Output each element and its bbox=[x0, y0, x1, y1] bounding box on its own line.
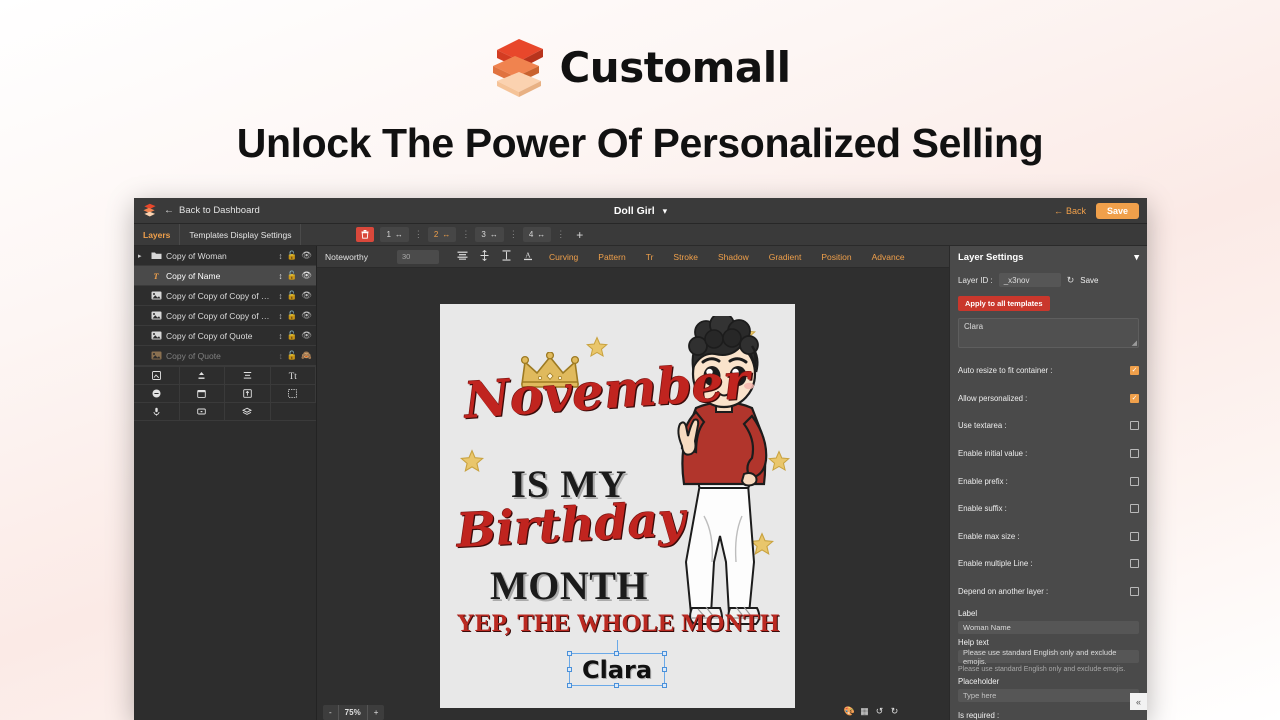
layer-actions[interactable]: ↕ 🔓 👁 bbox=[278, 330, 312, 341]
view-icon-group: 🎨 ▦ ↺ ↻ bbox=[843, 706, 901, 717]
setting-label: Depend on another layer : bbox=[958, 587, 1048, 596]
layers-stack-icon[interactable] bbox=[225, 403, 271, 421]
layer-actions[interactable]: ↕ 🔓 👁 bbox=[278, 270, 312, 281]
horizontal-resize-icon: ↔ bbox=[490, 230, 498, 239]
tool-cell-empty bbox=[271, 403, 317, 421]
stacked-cubes-logo bbox=[489, 36, 547, 98]
setting-label: Enable multiple Line : bbox=[958, 559, 1033, 568]
checkbox-enable-prefix[interactable] bbox=[1130, 477, 1139, 486]
emoji-icon[interactable] bbox=[134, 385, 180, 403]
layers-panel: ▸ Copy of Woman ↕ 🔓 👁 T Copy of Name ↕ 🔓 bbox=[134, 246, 317, 720]
drag-handle-icon[interactable]: ↕ bbox=[278, 271, 282, 281]
resize-handle-bottom-left[interactable] bbox=[567, 683, 572, 688]
eye-icon[interactable]: 👁 bbox=[301, 270, 312, 281]
page-chip-1[interactable]: 1 ↔ bbox=[380, 227, 408, 242]
layer-row[interactable]: T Copy of Name ↕ 🔓 👁 bbox=[134, 266, 316, 286]
tab-templates-display-settings[interactable]: Templates Display Settings bbox=[180, 224, 301, 245]
page-number: 3 bbox=[481, 230, 485, 239]
app-window: ← Back to Dashboard Doll Girl ▾ ← Back S… bbox=[134, 198, 1147, 720]
unlock-icon[interactable]: 🔓 bbox=[287, 270, 298, 281]
help-text-field-input[interactable]: Please use standard English only and exc… bbox=[958, 650, 1139, 663]
text-icon: T bbox=[150, 271, 162, 281]
page-headline: Unlock The Power Of Personalized Selling bbox=[0, 120, 1280, 167]
horizontal-resize-icon: ↔ bbox=[395, 230, 403, 239]
resize-handle-bottom-center[interactable] bbox=[614, 683, 619, 688]
text-icon[interactable]: Tt bbox=[271, 367, 317, 385]
checkbox-enable-suffix[interactable] bbox=[1130, 504, 1139, 513]
svg-text:A: A bbox=[525, 250, 531, 259]
tab-layers[interactable]: Layers bbox=[134, 224, 180, 245]
eye-icon[interactable]: 👁 bbox=[301, 330, 312, 341]
setting-label: Allow personalized : bbox=[958, 394, 1027, 403]
layer-text-value: Clara bbox=[964, 322, 983, 331]
layer-actions[interactable]: ↕ 🔓 👁 bbox=[278, 290, 312, 301]
app-subbar: Layers Templates Display Settings 1 ↔ ⋮ … bbox=[134, 224, 1147, 246]
placeholder-field-label: Placeholder bbox=[958, 677, 1139, 686]
setting-label: Enable prefix : bbox=[958, 477, 1008, 486]
layer-row[interactable]: Copy of Copy of Copy of Quote ↕ 🔓 👁 bbox=[134, 306, 316, 326]
format-toolbar: Noteworthy 30 A Curving Pattern Tr Strok… bbox=[317, 246, 949, 268]
design-artwork: November IS MY Birthday MONTH YEP, THE W… bbox=[440, 304, 795, 708]
drag-handle-icon[interactable]: ↕ bbox=[279, 351, 283, 361]
grid-icon[interactable]: ▦ bbox=[858, 706, 871, 717]
page-chip-2[interactable]: 2 ↔ bbox=[428, 227, 456, 242]
layer-settings-header[interactable]: Layer Settings ▾ bbox=[958, 252, 1139, 263]
layer-id-row: Layer ID : _x3nov ↻ Save bbox=[958, 273, 1139, 287]
format-link-pattern[interactable]: Pattern bbox=[588, 252, 635, 262]
video-icon[interactable] bbox=[180, 403, 226, 421]
checkbox-allow-personalized[interactable]: ✓ bbox=[1130, 394, 1139, 403]
layer-actions[interactable]: ↕ 🔓 👁 bbox=[278, 310, 312, 321]
app-body: ▸ Copy of Woman ↕ 🔓 👁 T Copy of Name ↕ 🔓 bbox=[134, 246, 1147, 720]
setting-label: Enable suffix : bbox=[958, 504, 1007, 513]
page-chip-4[interactable]: 4 ↔ bbox=[523, 227, 551, 242]
layer-row[interactable]: Copy of Quote ↕ 🔓 🙈 bbox=[134, 346, 316, 366]
back-to-dashboard-label: Back to Dashboard bbox=[179, 205, 260, 216]
layer-row[interactable]: Copy of Copy of Copy of Copy of ... ↕ 🔓 … bbox=[134, 286, 316, 306]
color-palette-icon[interactable]: 🎨 bbox=[843, 706, 856, 717]
document-title[interactable]: Doll Girl ▾ bbox=[134, 205, 1147, 217]
tools-grid: Tt bbox=[134, 366, 316, 421]
unlock-icon[interactable]: 🔓 bbox=[287, 250, 298, 261]
image-icon bbox=[150, 351, 162, 360]
font-size-input[interactable]: 30 bbox=[397, 250, 439, 264]
design-canvas[interactable]: November IS MY Birthday MONTH YEP, THE W… bbox=[440, 304, 795, 708]
canvas-bottom-bar: - 75% + 🎨 ▦ ↺ ↻ bbox=[317, 694, 949, 720]
label-field-label: Label bbox=[958, 609, 1139, 618]
undo-icon[interactable]: ↺ bbox=[873, 706, 886, 717]
setting-enable-max-size[interactable]: Enable max size : bbox=[958, 523, 1139, 551]
page-number: 2 bbox=[434, 230, 438, 239]
delete-page-button[interactable] bbox=[356, 227, 374, 242]
eye-icon[interactable]: 👁 bbox=[301, 250, 312, 261]
setting-label: Use textarea : bbox=[958, 421, 1007, 430]
canvas-stage[interactable]: November IS MY Birthday MONTH YEP, THE W… bbox=[317, 268, 949, 694]
help-text-field-label: Help text bbox=[958, 638, 1139, 647]
layer-name: Copy of Copy of Quote bbox=[166, 331, 274, 341]
expand-caret-icon[interactable]: ▸ bbox=[138, 252, 146, 260]
resize-handle-top-left[interactable] bbox=[567, 651, 572, 656]
setting-allow-personalized[interactable]: Allow personalized : ✓ bbox=[958, 385, 1139, 413]
checkbox-depend-on-another-layer[interactable] bbox=[1130, 587, 1139, 596]
brand-name: Customall bbox=[559, 43, 790, 92]
arrow-left-icon: ← bbox=[1054, 206, 1063, 216]
unlock-icon[interactable]: 🔓 bbox=[287, 350, 298, 361]
design-line-birthday: Birthday bbox=[451, 496, 691, 555]
format-link-position[interactable]: Position bbox=[811, 252, 861, 262]
back-to-dashboard-button[interactable]: ← Back to Dashboard bbox=[164, 205, 260, 216]
vertical-dots-icon[interactable]: ⋮ bbox=[414, 229, 423, 240]
horizontal-resize-icon: ↔ bbox=[537, 230, 545, 239]
layer-name: Copy of Copy of Copy of Copy of ... bbox=[166, 291, 274, 301]
app-topbar: ← Back to Dashboard Doll Girl ▾ ← Back S… bbox=[134, 198, 1147, 224]
apply-to-all-templates-button[interactable]: Apply to all templates bbox=[958, 296, 1050, 311]
drag-handle-icon[interactable]: ↕ bbox=[278, 331, 282, 341]
folder-icon bbox=[150, 251, 162, 260]
arrow-left-icon: ← bbox=[164, 205, 174, 216]
design-line-november: November bbox=[463, 360, 696, 426]
chevron-down-icon: ▾ bbox=[663, 206, 668, 216]
layer-text-textarea[interactable]: Clara ◢ bbox=[958, 318, 1139, 348]
redo-icon[interactable]: ↻ bbox=[888, 706, 901, 717]
eye-icon[interactable]: 👁 bbox=[301, 290, 312, 301]
zoom-in-button[interactable]: + bbox=[368, 705, 385, 720]
checkbox-enable-multiple-line[interactable] bbox=[1130, 559, 1139, 568]
back-button-label: Back bbox=[1066, 206, 1086, 216]
document-title-label: Doll Girl bbox=[614, 205, 655, 217]
pattern-icon[interactable] bbox=[271, 385, 317, 403]
save-button[interactable]: Save bbox=[1096, 203, 1139, 219]
brand-header: Customall bbox=[0, 0, 1280, 98]
format-link-gradient[interactable]: Gradient bbox=[759, 252, 812, 262]
layer-id-input[interactable]: _x3nov bbox=[999, 273, 1061, 287]
gold-star-icon bbox=[586, 336, 608, 358]
layer-settings-panel: Layer Settings ▾ Layer ID : _x3nov ↻ Sav… bbox=[949, 246, 1147, 720]
microphone-icon[interactable] bbox=[134, 403, 180, 421]
unlock-icon[interactable]: 🔓 bbox=[287, 330, 298, 341]
format-link-stroke[interactable]: Stroke bbox=[663, 252, 708, 262]
letter-spacing-icon[interactable] bbox=[495, 250, 517, 264]
zoom-out-button[interactable]: - bbox=[323, 705, 339, 720]
layer-name: Copy of Woman bbox=[166, 251, 274, 261]
format-link-shadow[interactable]: Shadow bbox=[708, 252, 759, 262]
shapes-icon[interactable] bbox=[225, 367, 271, 385]
qr-code-icon[interactable] bbox=[225, 385, 271, 403]
setting-use-textarea[interactable]: Use textarea : bbox=[958, 412, 1139, 440]
double-chevron-left-icon[interactable]: « bbox=[1130, 693, 1147, 710]
format-link-advance[interactable]: Advance bbox=[862, 252, 915, 262]
unlock-icon[interactable]: 🔓 bbox=[287, 290, 298, 301]
resize-handle-top-right[interactable] bbox=[662, 651, 667, 656]
eye-icon[interactable]: 👁 bbox=[301, 310, 312, 321]
align-icon[interactable] bbox=[451, 251, 473, 263]
is-required-label: Is required : bbox=[958, 711, 1139, 720]
format-link-curving[interactable]: Curving bbox=[539, 252, 588, 262]
resize-handle-bottom-right[interactable] bbox=[662, 683, 667, 688]
page-number: 1 bbox=[386, 230, 390, 239]
upload-icon[interactable] bbox=[180, 367, 226, 385]
setting-label: Auto resize to fit container : bbox=[958, 366, 1052, 375]
vertical-dots-icon[interactable]: ⋮ bbox=[509, 229, 518, 240]
customall-mark-icon bbox=[142, 203, 157, 218]
unlock-icon[interactable]: 🔓 bbox=[287, 310, 298, 321]
resize-handle-middle-right[interactable] bbox=[662, 667, 667, 672]
image-icon bbox=[150, 331, 162, 340]
text-color-icon[interactable]: A bbox=[517, 250, 539, 264]
resize-grip-icon[interactable]: ◢ bbox=[1132, 339, 1137, 347]
pages-strip: 1 ↔ ⋮ 2 ↔ ⋮ 3 ↔ ⋮ 4 ↔ ⋮ + bbox=[356, 227, 589, 242]
setting-auto-resize[interactable]: Auto resize to fit container : ✓ bbox=[958, 357, 1139, 385]
line-height-icon[interactable] bbox=[473, 250, 495, 264]
chevron-down-icon[interactable]: ▾ bbox=[1134, 252, 1139, 263]
layer-actions[interactable]: ↕ 🔓 👁 bbox=[278, 250, 312, 261]
calendar-icon[interactable] bbox=[180, 385, 226, 403]
horizontal-resize-icon: ↔ bbox=[442, 230, 450, 239]
design-line-month: MONTH bbox=[454, 562, 684, 609]
font-name-select[interactable]: Noteworthy bbox=[325, 252, 397, 262]
layer-id-save-button[interactable]: Save bbox=[1080, 276, 1098, 285]
checkbox-enable-initial-value[interactable] bbox=[1130, 449, 1139, 458]
add-page-button[interactable]: + bbox=[570, 228, 589, 242]
layer-id-label: Layer ID : bbox=[958, 276, 993, 285]
design-line-yep: YEP, THE WHOLE MONTH bbox=[448, 610, 788, 638]
selected-text-layer[interactable]: Clara bbox=[569, 653, 665, 686]
placeholder-field-input[interactable]: Type here bbox=[958, 689, 1139, 702]
checkbox-use-textarea[interactable] bbox=[1130, 421, 1139, 430]
trash-icon bbox=[361, 230, 369, 239]
layer-name: Copy of Quote bbox=[166, 351, 275, 361]
format-link-tr[interactable]: Tr bbox=[636, 252, 664, 262]
resize-handle-middle-left[interactable] bbox=[567, 667, 572, 672]
checkbox-auto-resize[interactable]: ✓ bbox=[1130, 366, 1139, 375]
page-number: 4 bbox=[529, 230, 533, 239]
drag-handle-icon[interactable]: ↕ bbox=[278, 311, 282, 321]
zoom-control[interactable]: - 75% + bbox=[323, 705, 384, 720]
layer-settings-title: Layer Settings bbox=[958, 252, 1023, 263]
setting-enable-initial-value[interactable]: Enable initial value : bbox=[958, 440, 1139, 468]
setting-enable-suffix[interactable]: Enable suffix : bbox=[958, 495, 1139, 523]
eye-off-icon[interactable]: 🙈 bbox=[301, 350, 312, 361]
label-field-input[interactable]: Woman Name bbox=[958, 621, 1139, 634]
image-icon bbox=[150, 291, 162, 300]
layer-row[interactable]: ▸ Copy of Woman ↕ 🔓 👁 bbox=[134, 246, 316, 266]
page-chip-3[interactable]: 3 ↔ bbox=[475, 227, 503, 242]
help-text-preview: Please use standard English only and exc… bbox=[958, 666, 1139, 673]
back-button[interactable]: ← Back bbox=[1054, 206, 1086, 216]
setting-label: Enable max size : bbox=[958, 532, 1020, 541]
vertical-dots-icon[interactable]: ⋮ bbox=[461, 229, 470, 240]
layer-name: Copy of Copy of Copy of Quote bbox=[166, 311, 274, 321]
image-icon bbox=[150, 311, 162, 320]
resize-handle-top-center[interactable] bbox=[614, 651, 619, 656]
checkbox-enable-max-size[interactable] bbox=[1130, 532, 1139, 541]
zoom-level-label: 75% bbox=[339, 705, 368, 720]
setting-enable-multiple-line[interactable]: Enable multiple Line : bbox=[958, 550, 1139, 578]
canvas-area: Noteworthy 30 A Curving Pattern Tr Strok… bbox=[317, 246, 949, 720]
setting-enable-prefix[interactable]: Enable prefix : bbox=[958, 467, 1139, 495]
layer-name: Copy of Name bbox=[166, 271, 274, 281]
drag-handle-icon[interactable]: ↕ bbox=[278, 251, 282, 261]
refresh-icon[interactable]: ↻ bbox=[1067, 275, 1075, 286]
setting-depend-on-another-layer[interactable]: Depend on another layer : bbox=[958, 578, 1139, 606]
drag-handle-icon[interactable]: ↕ bbox=[278, 291, 282, 301]
setting-label: Enable initial value : bbox=[958, 449, 1027, 458]
personalized-name-text: Clara bbox=[570, 654, 664, 685]
vertical-dots-icon[interactable]: ⋮ bbox=[556, 229, 565, 240]
layer-actions[interactable]: ↕ 🔓 🙈 bbox=[279, 350, 312, 361]
layer-row[interactable]: Copy of Copy of Quote ↕ 🔓 👁 bbox=[134, 326, 316, 346]
add-image-icon[interactable] bbox=[134, 367, 180, 385]
